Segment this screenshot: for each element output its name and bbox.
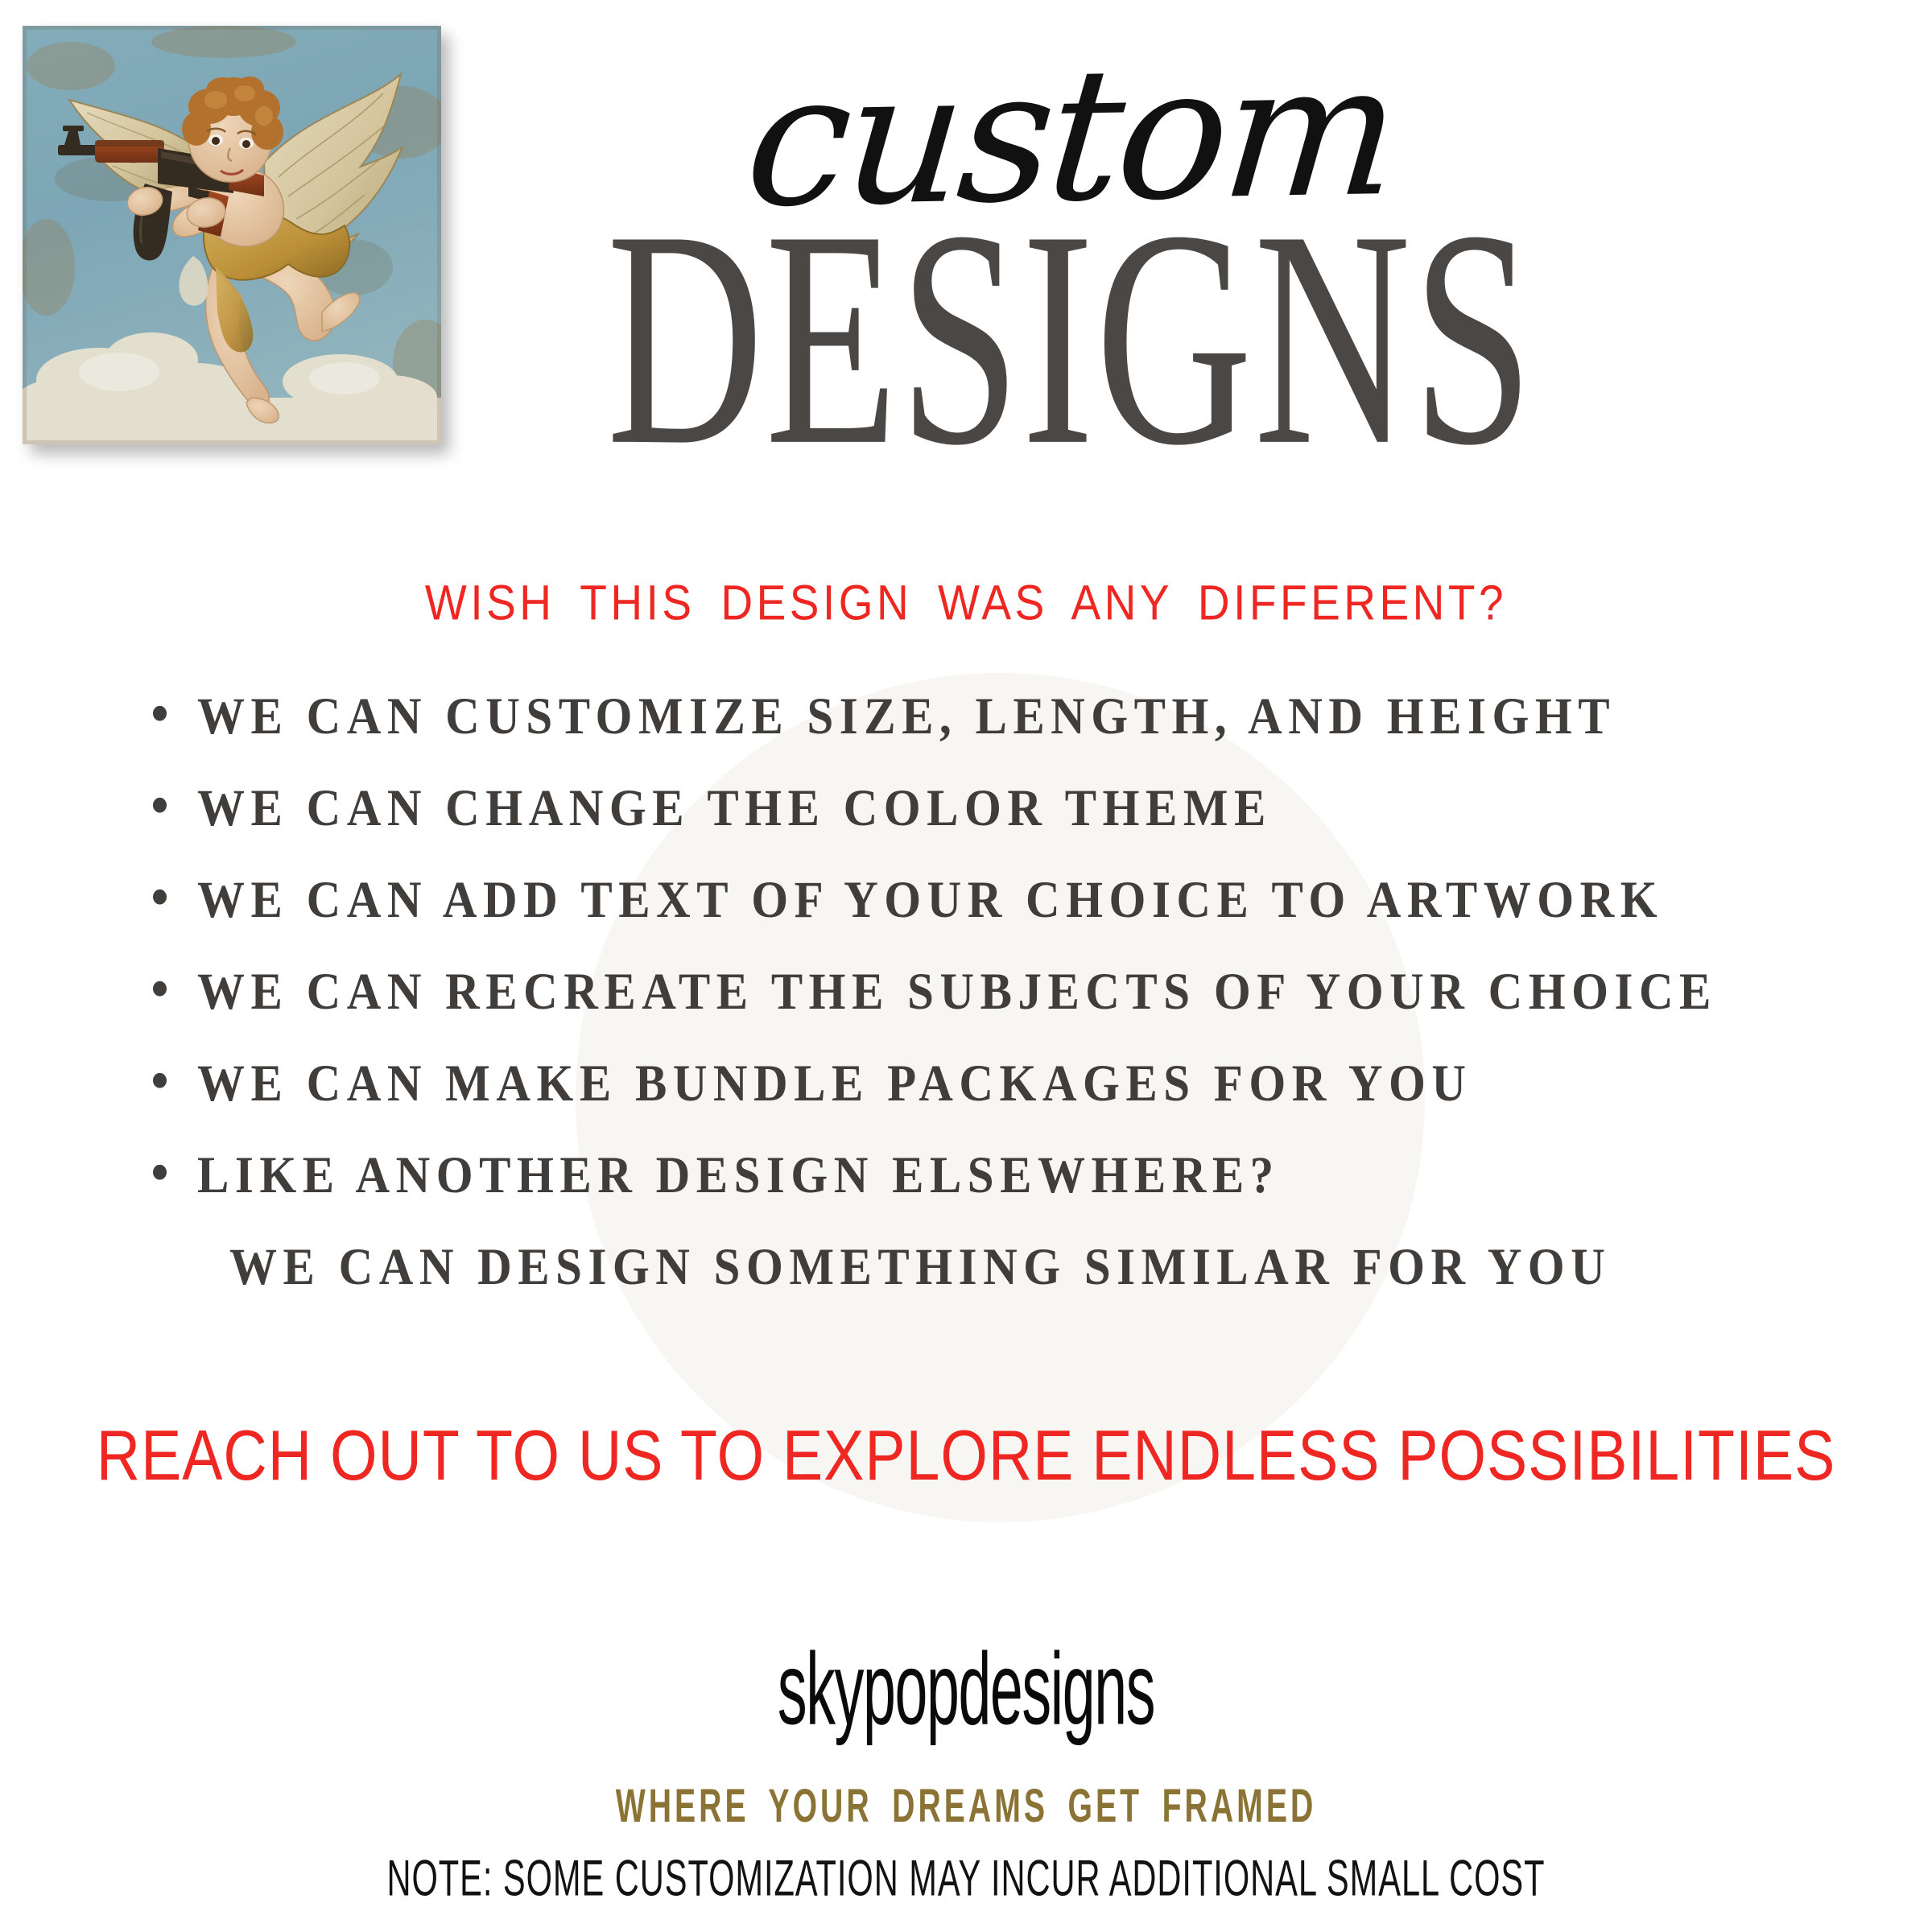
cherub-with-rifle-icon [23, 26, 441, 444]
bullet-dot-icon [153, 798, 167, 813]
list-item-continuation: WE CAN DESIGN SOMETHING SIMILAR FOR YOU [153, 1241, 1795, 1293]
list-item-label: LIKE ANOTHER DESIGN ELSEWHERE? [197, 1149, 1280, 1201]
list-item-label: WE CAN MAKE BUNDLE PACKAGES FOR YOU [197, 1057, 1472, 1109]
subtitle-question: WISH THIS DESIGN WAS ANY DIFFERENT? [0, 573, 1932, 631]
bullet-dot-icon [153, 1165, 167, 1180]
bullet-dot-icon [153, 706, 167, 721]
bullet-dot-icon [153, 890, 167, 905]
list-item-label: WE CAN DESIGN SOMETHING SIMILAR FOR YOU [229, 1241, 1611, 1293]
footer-note: NOTE: SOME CUSTOMIZATION MAY INCUR ADDIT… [193, 1849, 1739, 1908]
list-item: WE CAN CHANGE THE COLOR THEME [153, 782, 1795, 834]
brand-wordmark: skypopdesigns [309, 1629, 1623, 1748]
list-item-label: WE CAN CHANGE THE COLOR THEME [197, 782, 1272, 834]
list-item: WE CAN MAKE BUNDLE PACKAGES FOR YOU [153, 1057, 1795, 1109]
brand-tagline: WHERE YOUR DREAMS GET FRAMED [193, 1779, 1739, 1833]
list-item: LIKE ANOTHER DESIGN ELSEWHERE? [153, 1149, 1795, 1201]
artwork-canvas [23, 26, 441, 444]
bullet-dot-icon [153, 981, 167, 997]
list-item-label: WE CAN ADD TEXT OF YOUR CHOICE TO ARTWOR… [197, 873, 1663, 926]
headline-block: custom DESIGNS [451, 48, 1690, 450]
custom-designs-poster: custom DESIGNS WISH THIS DESIGN WAS ANY … [0, 0, 1932, 1932]
artwork-thumbnail[interactable] [23, 26, 441, 444]
customization-options-list: WE CAN CUSTOMIZE SIZE, LENGTH, AND HEIGH… [153, 692, 1795, 1335]
list-item: WE CAN RECREATE THE SUBJECTS OF YOUR CHO… [153, 965, 1795, 1018]
call-to-action: REACH OUT TO US TO EXPLORE ENDLESS POSSI… [10, 1415, 1922, 1496]
bullet-dot-icon [153, 1073, 167, 1088]
list-item: WE CAN CUSTOMIZE SIZE, LENGTH, AND HEIGH… [153, 690, 1795, 742]
page-title: DESIGNS [513, 201, 1629, 473]
list-item-label: WE CAN RECREATE THE SUBJECTS OF YOUR CHO… [197, 965, 1717, 1018]
list-item: WE CAN ADD TEXT OF YOUR CHOICE TO ARTWOR… [153, 873, 1795, 926]
list-item-label: WE CAN CUSTOMIZE SIZE, LENGTH, AND HEIGH… [197, 690, 1616, 742]
